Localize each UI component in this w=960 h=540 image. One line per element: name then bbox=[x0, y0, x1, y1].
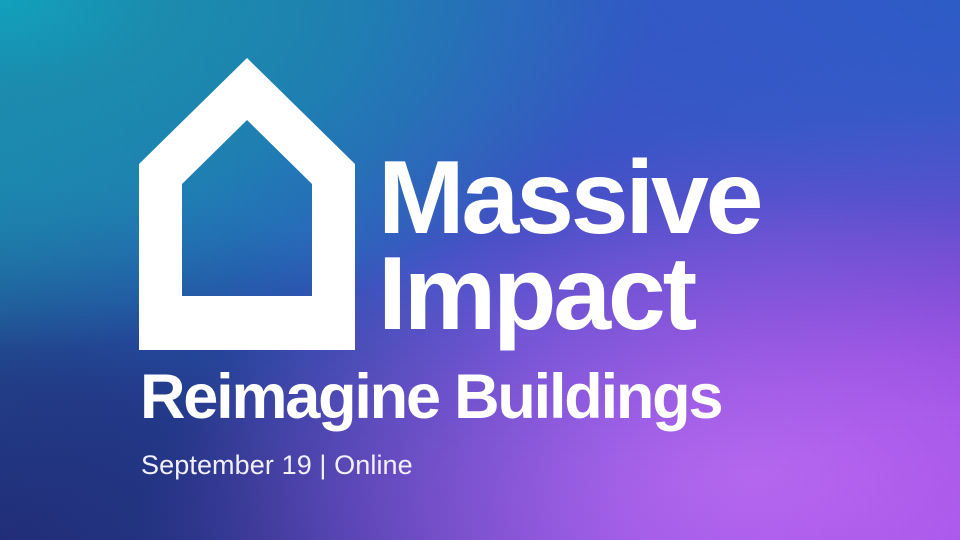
promo-banner: Massive Impact Reimagine Buildings Septe… bbox=[0, 0, 960, 540]
event-details: September 19 | Online bbox=[141, 451, 413, 481]
headline-line-1: Massive bbox=[378, 150, 848, 248]
page-title: Massive Impact bbox=[378, 150, 848, 344]
house-icon bbox=[139, 58, 355, 350]
tagline: Reimagine Buildings bbox=[140, 366, 721, 429]
headline-line-2: Impact bbox=[378, 246, 848, 344]
